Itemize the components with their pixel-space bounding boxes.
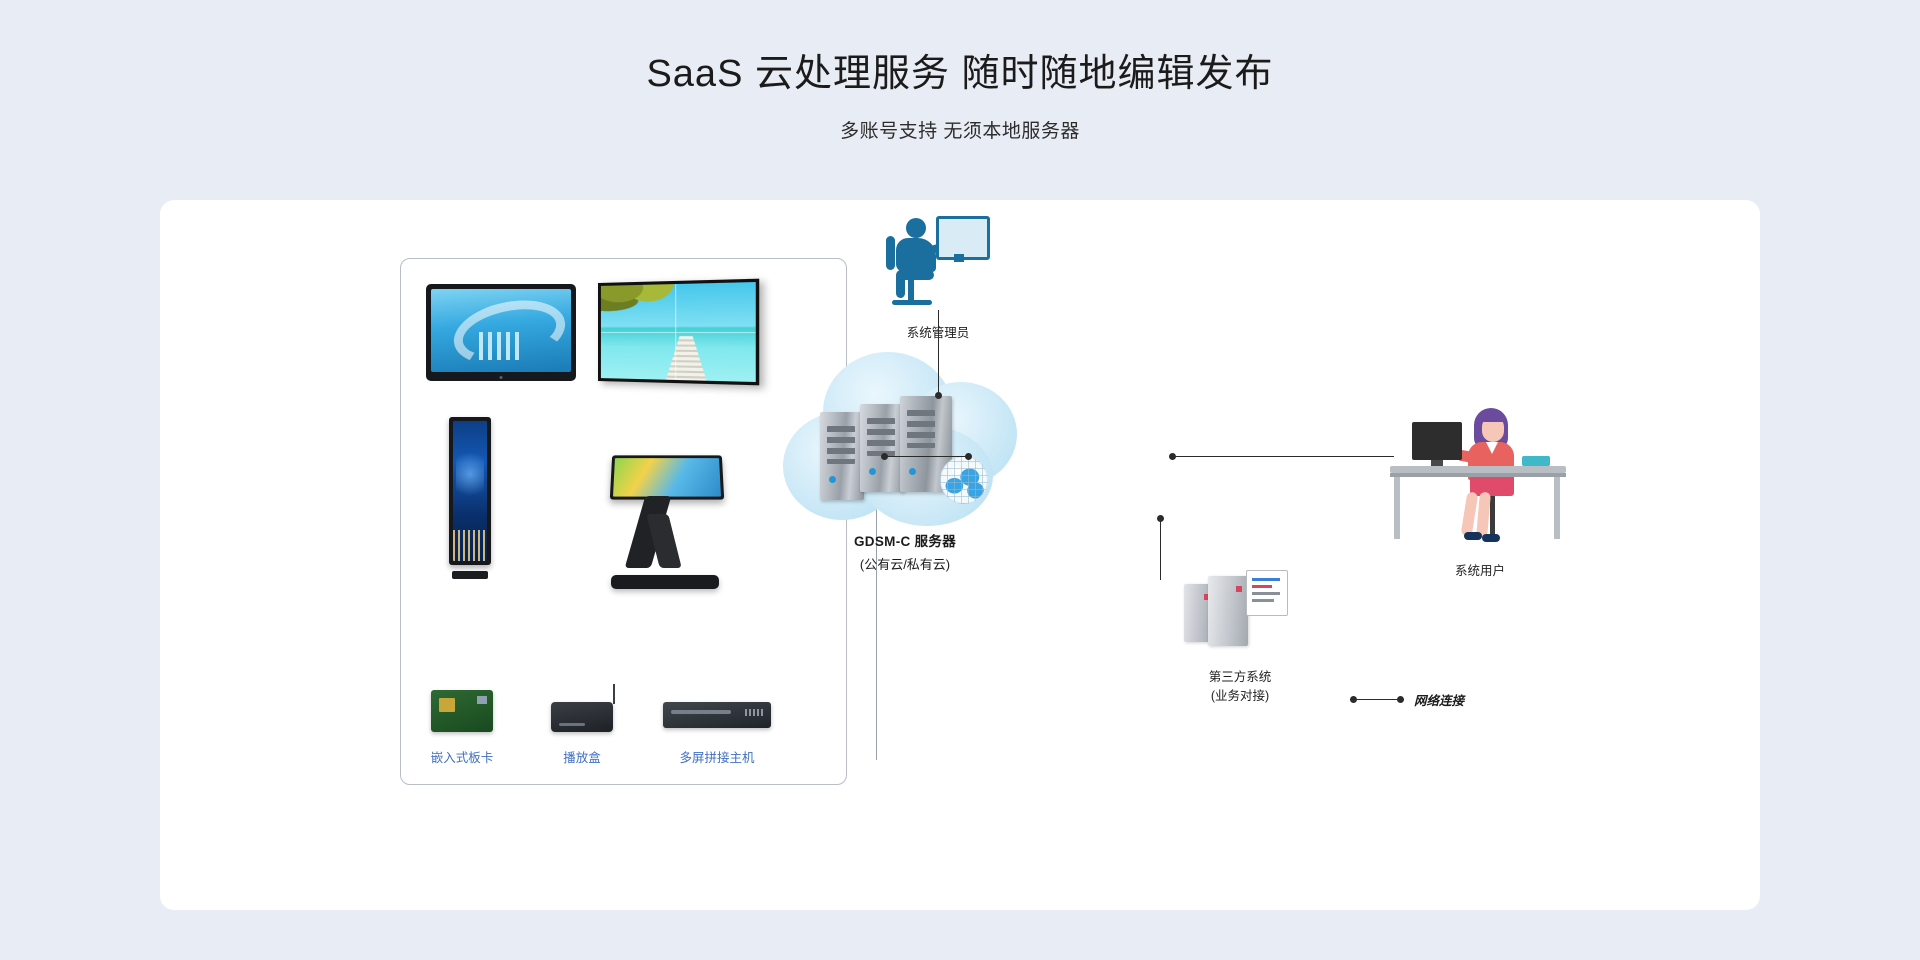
system-user-illustration [1390, 400, 1570, 550]
page-title: SaaS 云处理服务 随时随地编辑发布 [0, 0, 1920, 98]
user-shoe-left [1464, 532, 1482, 540]
embedded-board-label: 嵌入式板卡 [402, 747, 522, 766]
admin-monitor-stand [954, 254, 964, 262]
connector-cloud-to-user [1172, 456, 1394, 457]
connector-cloud-to-third-party [1160, 518, 1161, 580]
page-header: SaaS 云处理服务 随时随地编辑发布 多账号支持 无须本地服务器 [0, 0, 1920, 143]
user-shoe-right [1482, 534, 1500, 542]
user-hair-front [1476, 410, 1506, 422]
touch-table-kiosk-screen [610, 455, 724, 499]
user-desk-books-icon [1522, 456, 1550, 466]
connector-dot-cloud-bottom [1157, 515, 1164, 522]
standing-kiosk-device [449, 417, 491, 579]
touch-table-kiosk-device [601, 454, 729, 589]
third-party-system-line1: 第三方系统 [1160, 668, 1320, 687]
connector-dot-cloud-top [935, 392, 942, 399]
video-wall-pier-graphic [666, 336, 707, 381]
third-party-system-illustration [1180, 570, 1300, 660]
connector-dot-cloud-left [965, 453, 972, 460]
lcd-display-screen [431, 289, 571, 372]
legend-label: 网络连接 [1414, 690, 1464, 709]
standing-kiosk-screen-skyline [453, 530, 487, 561]
standing-kiosk-screen-glow [456, 446, 483, 502]
media-player-box-device [551, 702, 613, 732]
touch-table-kiosk-foot [611, 575, 719, 589]
diagram-card: 嵌入式板卡 播放盒 多屏拼接主机 远程终端 GDSM-C 服务器 (公有云/私有… [160, 200, 1760, 910]
multi-screen-splicing-host-label: 多屏拼接主机 [657, 747, 777, 766]
server-stack-icon [820, 392, 970, 504]
legend-line-icon [1350, 696, 1404, 703]
admin-chair-back [886, 236, 895, 270]
admin-chair-base [892, 300, 932, 305]
admin-torso [896, 238, 936, 272]
admin-shin [896, 272, 905, 298]
standing-kiosk-screen [453, 421, 487, 561]
connector-dot-terminal [881, 453, 888, 460]
third-party-system-line2: (业务对接) [1160, 687, 1320, 706]
user-skirt [1470, 474, 1514, 496]
video-wall-seam-horizontal [601, 332, 756, 333]
globe-icon [940, 456, 988, 504]
third-party-document-icon [1246, 570, 1288, 616]
page-subtitle: 多账号支持 无须本地服务器 [0, 98, 1920, 143]
third-party-system-label: 第三方系统 (业务对接) [1160, 668, 1320, 706]
user-desk-leg-right [1554, 477, 1560, 539]
standing-kiosk-body [449, 417, 491, 565]
user-desk-leg-left [1394, 477, 1400, 539]
standing-kiosk-base [452, 571, 488, 579]
legend: 网络连接 [1350, 690, 1464, 709]
admin-head [906, 218, 926, 238]
video-wall-screen [601, 282, 756, 382]
connector-admin-to-cloud [938, 310, 939, 395]
multi-screen-splicing-host-device [663, 702, 771, 728]
user-desk-top [1390, 466, 1566, 473]
cloud-server-title: GDSM-C 服务器 [780, 530, 1030, 550]
user-desk-edge [1390, 473, 1566, 477]
third-party-server-2-icon [1208, 576, 1248, 646]
media-player-box-label: 播放盒 [522, 747, 642, 766]
system-user-label: 系统用户 [1400, 560, 1560, 579]
connector-dot-cloud-right [1169, 453, 1176, 460]
cloud-server-label: GDSM-C 服务器 (公有云/私有云) [780, 530, 1030, 573]
user-chair-leg [1490, 490, 1495, 536]
video-wall-device [598, 279, 759, 386]
lcd-power-indicator-icon [500, 376, 503, 379]
lcd-display-device [426, 284, 576, 381]
server-unit-2-icon [860, 404, 904, 492]
user-monitor-icon [1412, 422, 1462, 460]
system-admin-illustration [878, 210, 998, 320]
server-unit-1-icon [820, 412, 864, 500]
connector-terminal-to-cloud [884, 456, 968, 457]
video-wall-palm-graphic [601, 282, 685, 326]
embedded-board-device [431, 690, 493, 732]
admin-chair-pole [908, 278, 914, 302]
cloud-server-subtitle: (公有云/私有云) [780, 554, 1030, 573]
